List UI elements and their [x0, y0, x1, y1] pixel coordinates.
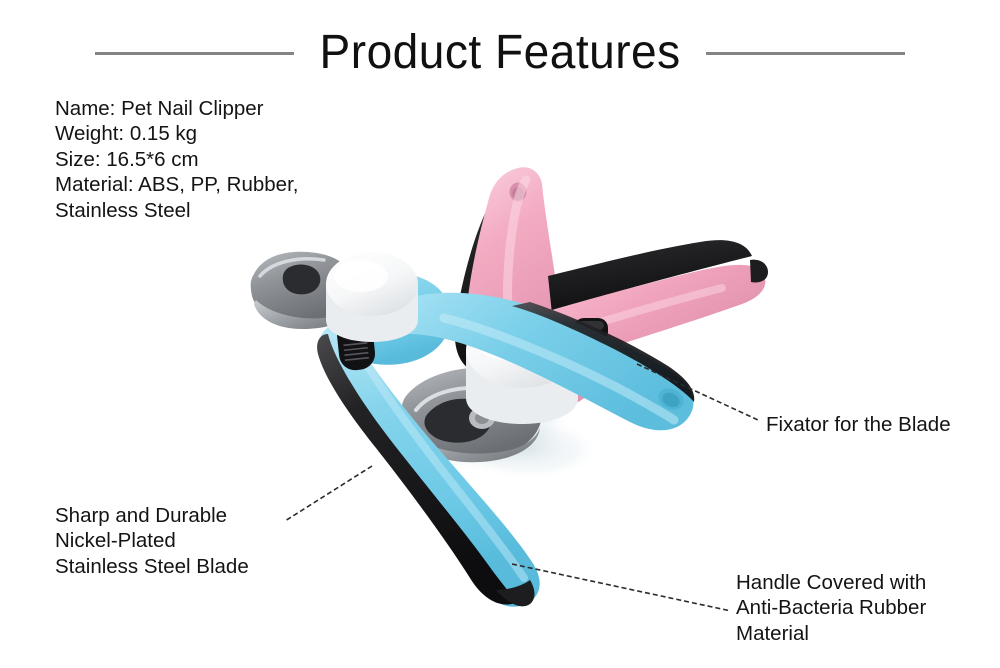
- blue-disc-top-highlight: [334, 260, 388, 292]
- title-rule-left: [95, 52, 294, 55]
- page-title-bar: Product Features: [0, 18, 1000, 88]
- pink-arm-tip: [750, 260, 768, 283]
- callout-handle-rubber-material: Handle Covered with Anti-Bacteria Rubber…: [736, 570, 926, 646]
- blue-blade-opening: [283, 265, 321, 295]
- callout-blade-line-2: Nickel-Plated: [55, 528, 249, 553]
- callout-handle-line-2: Anti-Bacteria Rubber: [736, 595, 926, 620]
- title-rule-right: [706, 52, 905, 55]
- callout-blade-line-1: Sharp and Durable: [55, 503, 249, 528]
- callout-handle-line-1: Handle Covered with: [736, 570, 926, 595]
- callout-sharp-durable-blade: Sharp and Durable Nickel-Plated Stainles…: [55, 503, 249, 579]
- page-title: Product Features: [302, 26, 698, 80]
- blue-blade-fixator-disc: [326, 252, 418, 342]
- callout-fixator-for-the-blade: Fixator for the Blade: [766, 412, 951, 437]
- callout-handle-line-3: Material: [736, 621, 926, 646]
- product-image: [230, 150, 790, 630]
- product-features-page: Product Features Name: Pet Nail Clipper …: [0, 0, 1000, 668]
- callout-blade-line-3: Stainless Steel Blade: [55, 554, 249, 579]
- spec-line-weight: Weight: 0.15 kg: [55, 121, 385, 146]
- callout-fixator-line-1: Fixator for the Blade: [766, 412, 951, 437]
- spec-line-name: Name: Pet Nail Clipper: [55, 96, 385, 121]
